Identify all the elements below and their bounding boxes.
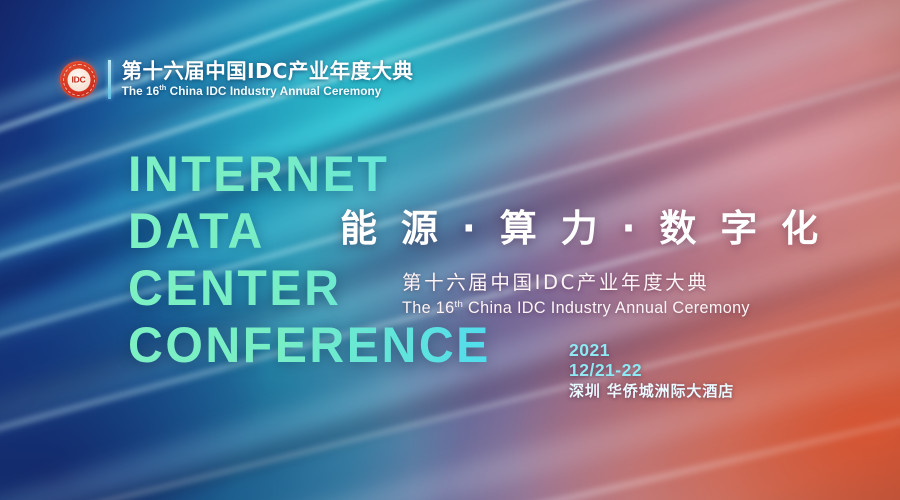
header-title-cn: 第十六届中国IDC产业年度大典 xyxy=(122,61,414,83)
header-title-en-before: The 16 xyxy=(122,84,160,98)
header-text-block: 第十六届中国IDC产业年度大典 The 16th China IDC Indus… xyxy=(122,61,414,98)
event-subtitle-en: The 16th China IDC Industry Annual Cerem… xyxy=(402,299,824,318)
event-subtitle-en-before: The 16 xyxy=(402,299,455,317)
header-title-en-after: China IDC Industry Annual Ceremony xyxy=(166,84,381,98)
header-lockup: IDC 第十六届中国IDC产业年度大典 The 16th China IDC I… xyxy=(60,60,413,99)
event-date: 12/21-22 xyxy=(569,360,734,380)
vertical-divider-icon xyxy=(108,60,111,99)
seal-label: IDC xyxy=(71,75,85,84)
event-subtitle-en-after: China IDC Industry Annual Ceremony xyxy=(463,299,750,317)
event-subtitle-en-superscript: th xyxy=(455,299,464,310)
event-venue: 深圳 华侨城洲际大酒店 xyxy=(569,382,734,401)
headline-line: CONFERENCE xyxy=(128,317,491,374)
header-title-en: The 16th China IDC Industry Annual Cerem… xyxy=(122,84,414,98)
event-meta-block: 2021 12/21-22 深圳 华侨城洲际大酒店 xyxy=(569,340,734,401)
right-text-column: 能 源 · 算 力 · 数 字 化 第十六届中国IDC产业年度大典 The 16… xyxy=(340,208,824,318)
conference-banner: IDC 第十六届中国IDC产业年度大典 The 16th China IDC I… xyxy=(0,0,900,500)
idc-circular-seal-icon: IDC xyxy=(60,61,97,98)
event-year: 2021 xyxy=(569,340,734,360)
seal-core: IDC xyxy=(67,68,90,91)
headline-line: INTERNET xyxy=(128,146,491,203)
event-tagline: 能 源 · 算 力 · 数 字 化 xyxy=(340,208,824,249)
event-subtitle-cn: 第十六届中国IDC产业年度大典 xyxy=(402,271,824,294)
